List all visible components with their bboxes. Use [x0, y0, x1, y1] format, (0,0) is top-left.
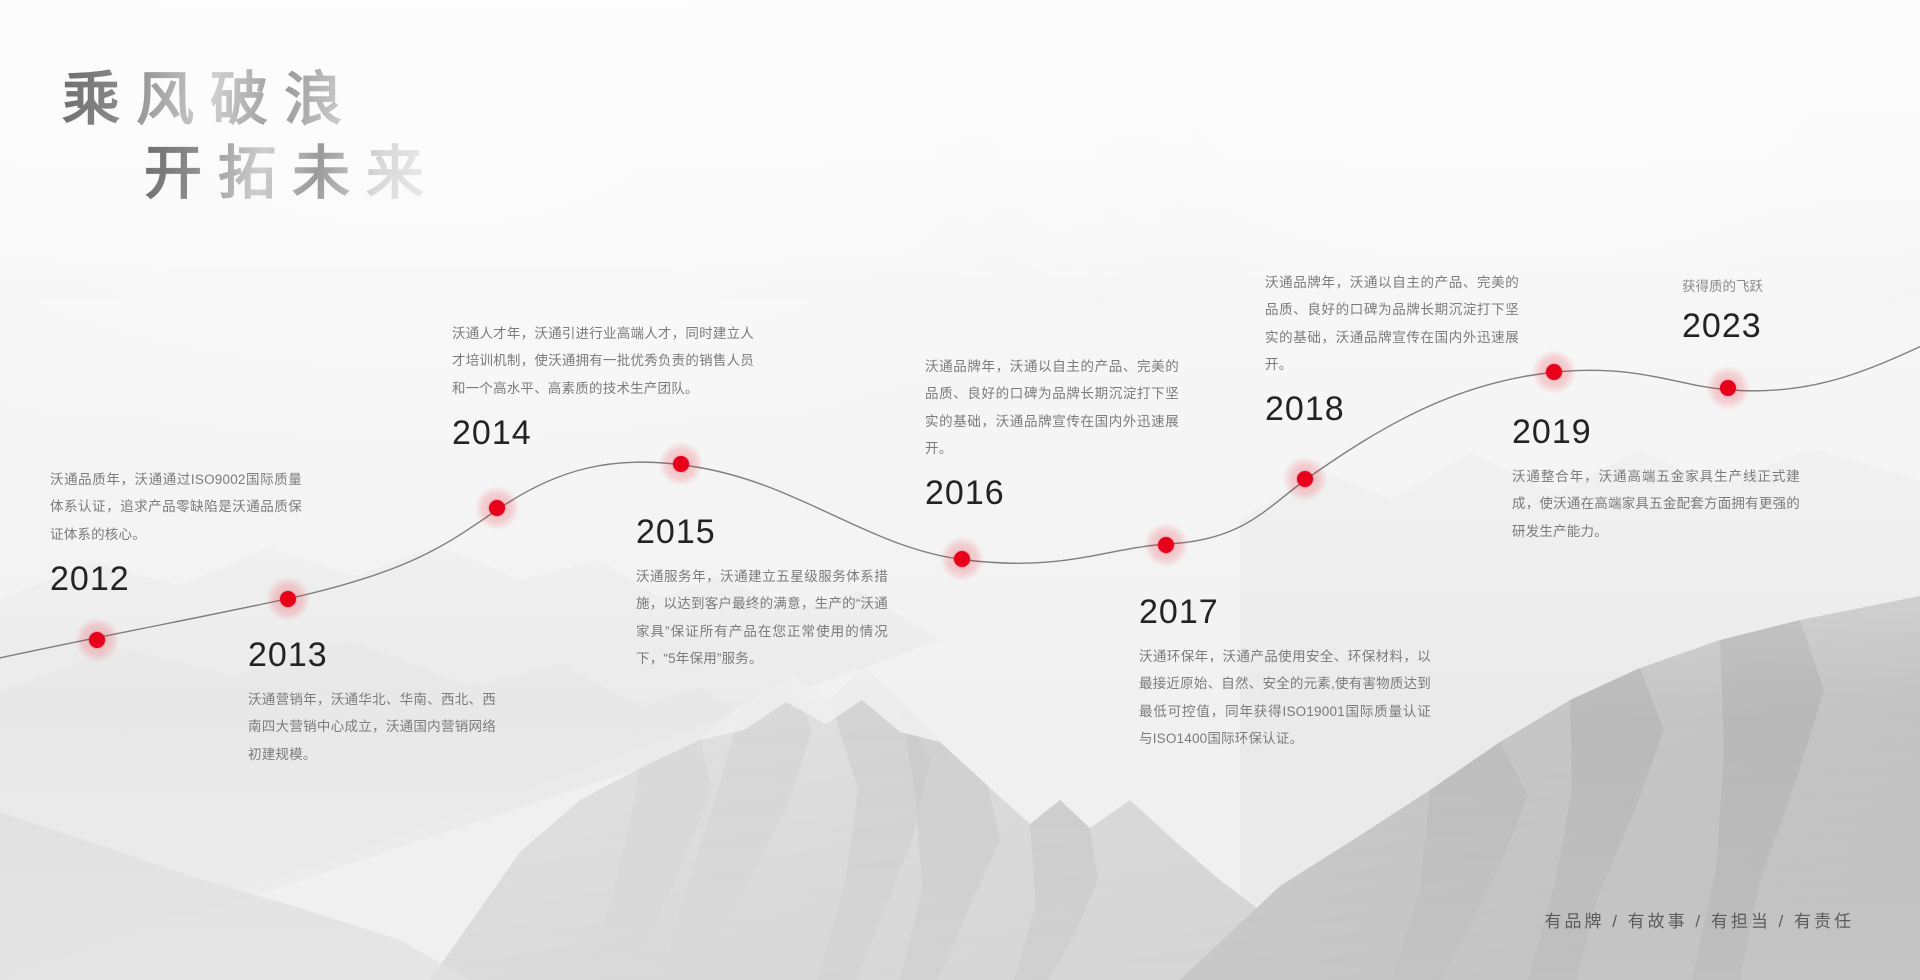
- node-dot: [1297, 471, 1313, 487]
- timeline-node-2016[interactable]: [940, 537, 984, 581]
- slide-canvas: 乘风破浪 开拓未来 沃通品质年，沃通通过ISO9002国际质量体系认证，追求产品…: [0, 0, 1920, 980]
- entry-year-2023: 2023: [1682, 309, 1862, 343]
- entry-year-2013: 2013: [248, 638, 496, 672]
- timeline-entry-2015[interactable]: 2015沃通服务年，沃通建立五星级服务体系措施，以达到客户最终的满意，生产的“沃…: [636, 515, 888, 672]
- node-dot: [489, 500, 505, 516]
- headline-line-1: 乘风破浪: [62, 62, 440, 136]
- timeline-entry-2016[interactable]: 沃通品牌年，沃通以自主的产品、完美的品质、良好的口碑为品牌长期沉淀打下坚实的基础…: [925, 353, 1179, 510]
- entry-year-2016: 2016: [925, 476, 1179, 510]
- node-dot: [954, 551, 970, 567]
- timeline-node-2019[interactable]: [1532, 350, 1576, 394]
- entry-year-2012: 2012: [50, 562, 302, 596]
- entry-description-2013: 沃通营销年，沃通华北、华南、西北、西南四大营销中心成立，沃通国内营销网络初建规模…: [248, 686, 496, 768]
- timeline-entry-2012[interactable]: 沃通品质年，沃通通过ISO9002国际质量体系认证，追求产品零缺陷是沃通品质保证…: [50, 466, 302, 596]
- node-dot: [1720, 380, 1736, 396]
- node-dot: [89, 632, 105, 648]
- node-dot: [1546, 364, 1562, 380]
- entry-description-2018: 沃通品牌年，沃通以自主的产品、完美的品质、良好的口碑为品牌长期沉淀打下坚实的基础…: [1265, 269, 1519, 378]
- timeline-entry-2019[interactable]: 2019沃通整合年，沃通高端五金家具生产线正式建成，使沃通在高端家具五金配套方面…: [1512, 415, 1800, 545]
- footer-slogan: 有品牌 / 有故事 / 有担当 / 有责任: [1544, 907, 1854, 932]
- entry-year-2017: 2017: [1139, 595, 1431, 629]
- headline-line-2: 开拓未来: [144, 136, 440, 210]
- timeline-node-2018[interactable]: [1283, 457, 1327, 501]
- entry-description-2017: 沃通环保年，沃通产品使用安全、环保材料，以最接近原始、自然、安全的元素,使有害物…: [1139, 643, 1431, 752]
- timeline-entry-2018[interactable]: 沃通品牌年，沃通以自主的产品、完美的品质、良好的口碑为品牌长期沉淀打下坚实的基础…: [1265, 269, 1519, 426]
- timeline-node-2012[interactable]: [75, 618, 119, 662]
- timeline-entry-2014[interactable]: 沃通人才年，沃通引进行业高端人才，同时建立人才培训机制，使沃通拥有一批优秀负责的…: [452, 320, 754, 450]
- node-dot: [1158, 537, 1174, 553]
- timeline-node-2014[interactable]: [475, 486, 519, 530]
- timeline-node-2017[interactable]: [1144, 523, 1188, 567]
- entry-year-2014: 2014: [452, 416, 754, 450]
- entry-year-2019: 2019: [1512, 415, 1800, 449]
- entry-year-2018: 2018: [1265, 392, 1519, 426]
- entry-description-2019: 沃通整合年，沃通高端五金家具生产线正式建成，使沃通在高端家具五金配套方面拥有更强…: [1512, 463, 1800, 545]
- timeline-entry-2023[interactable]: 获得质的飞跃2023: [1682, 275, 1862, 343]
- timeline-node-2023[interactable]: [1706, 366, 1750, 410]
- headline: 乘风破浪 开拓未来: [62, 62, 440, 210]
- node-dot: [673, 456, 689, 472]
- entry-description-2016: 沃通品牌年，沃通以自主的产品、完美的品质、良好的口碑为品牌长期沉淀打下坚实的基础…: [925, 353, 1179, 462]
- entry-lead-2023: 获得质的飞跃: [1682, 275, 1862, 299]
- entry-description-2012: 沃通品质年，沃通通过ISO9002国际质量体系认证，追求产品零缺陷是沃通品质保证…: [50, 466, 302, 548]
- entry-year-2015: 2015: [636, 515, 888, 549]
- entry-description-2015: 沃通服务年，沃通建立五星级服务体系措施，以达到客户最终的满意，生产的“沃通家具”…: [636, 563, 888, 672]
- entry-description-2014: 沃通人才年，沃通引进行业高端人才，同时建立人才培训机制，使沃通拥有一批优秀负责的…: [452, 320, 754, 402]
- timeline-entry-2013[interactable]: 2013沃通营销年，沃通华北、华南、西北、西南四大营销中心成立，沃通国内营销网络…: [248, 638, 496, 768]
- timeline-entry-2017[interactable]: 2017沃通环保年，沃通产品使用安全、环保材料，以最接近原始、自然、安全的元素,…: [1139, 595, 1431, 752]
